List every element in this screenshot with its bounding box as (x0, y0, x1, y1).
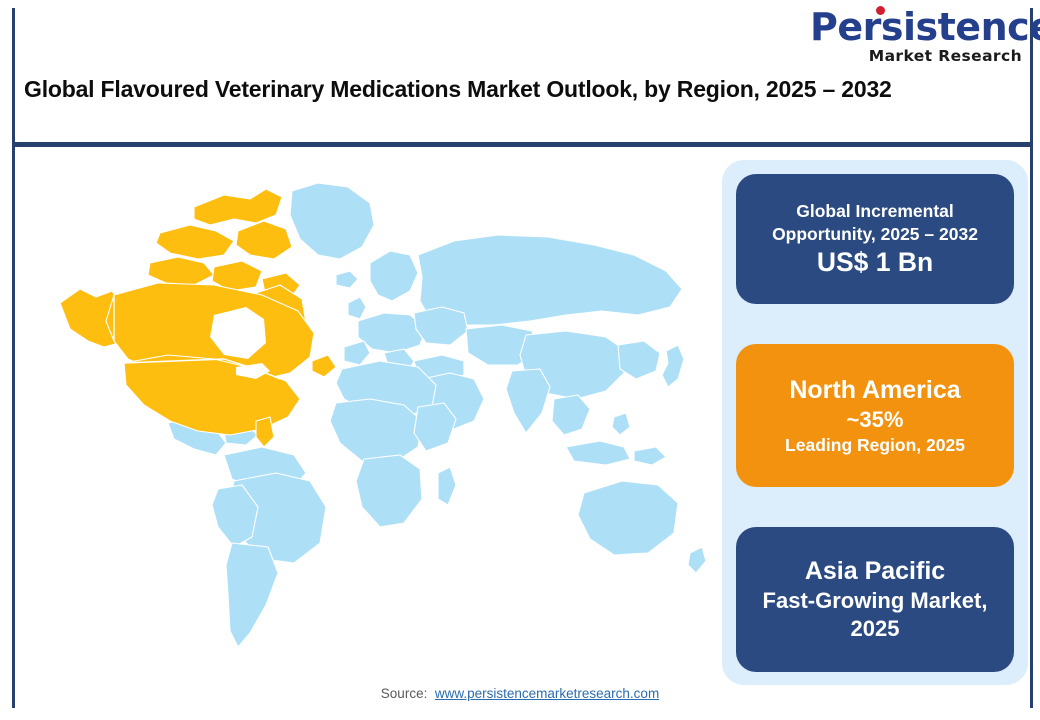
page-border-right (1030, 8, 1033, 708)
card-global-value: US$ 1 Bn (817, 246, 933, 279)
card-fast-growing-region-name: Asia Pacific (805, 556, 945, 587)
logo-subtitle: Market Research (810, 47, 1022, 65)
card-leading-region-share: ~35% (847, 406, 904, 434)
title-divider (15, 142, 1030, 147)
card-fast-growing-caption-line1: Fast-Growing Market, (763, 587, 988, 615)
logo-wordmark-text: Persistence (810, 5, 1040, 49)
page-border-left (12, 8, 15, 708)
page-title: Global Flavoured Veterinary Medications … (24, 74, 954, 105)
card-global-incremental-opportunity: Global Incremental Opportunity, 2025 – 2… (736, 174, 1014, 304)
card-leading-region-name: North America (789, 375, 960, 406)
source-label: Source: (381, 686, 428, 701)
card-leading-region-caption: Leading Region, 2025 (785, 434, 965, 457)
card-global-line2: Opportunity, 2025 – 2032 (772, 223, 978, 246)
brand-logo: Persistence Market Research (810, 8, 1022, 66)
source-link[interactable]: www.persistencemarketresearch.com (435, 686, 659, 701)
world-map (18, 155, 718, 675)
card-fast-growing-market: Asia Pacific Fast-Growing Market, 2025 (736, 527, 1014, 672)
card-leading-region: North America ~35% Leading Region, 2025 (736, 344, 1014, 487)
infographic-page: Persistence Market Research Global Flavo… (0, 0, 1040, 720)
red-dot-icon (876, 6, 885, 15)
highlights-panel: Global Incremental Opportunity, 2025 – 2… (722, 160, 1028, 685)
world-map-svg (18, 155, 718, 675)
card-global-line1: Global Incremental (796, 200, 954, 223)
source-footer: Source: www.persistencemarketresearch.co… (0, 686, 1040, 701)
logo-wordmark: Persistence (810, 8, 1022, 46)
card-fast-growing-caption-line2: 2025 (851, 615, 900, 643)
map-region-north-america (60, 189, 336, 447)
